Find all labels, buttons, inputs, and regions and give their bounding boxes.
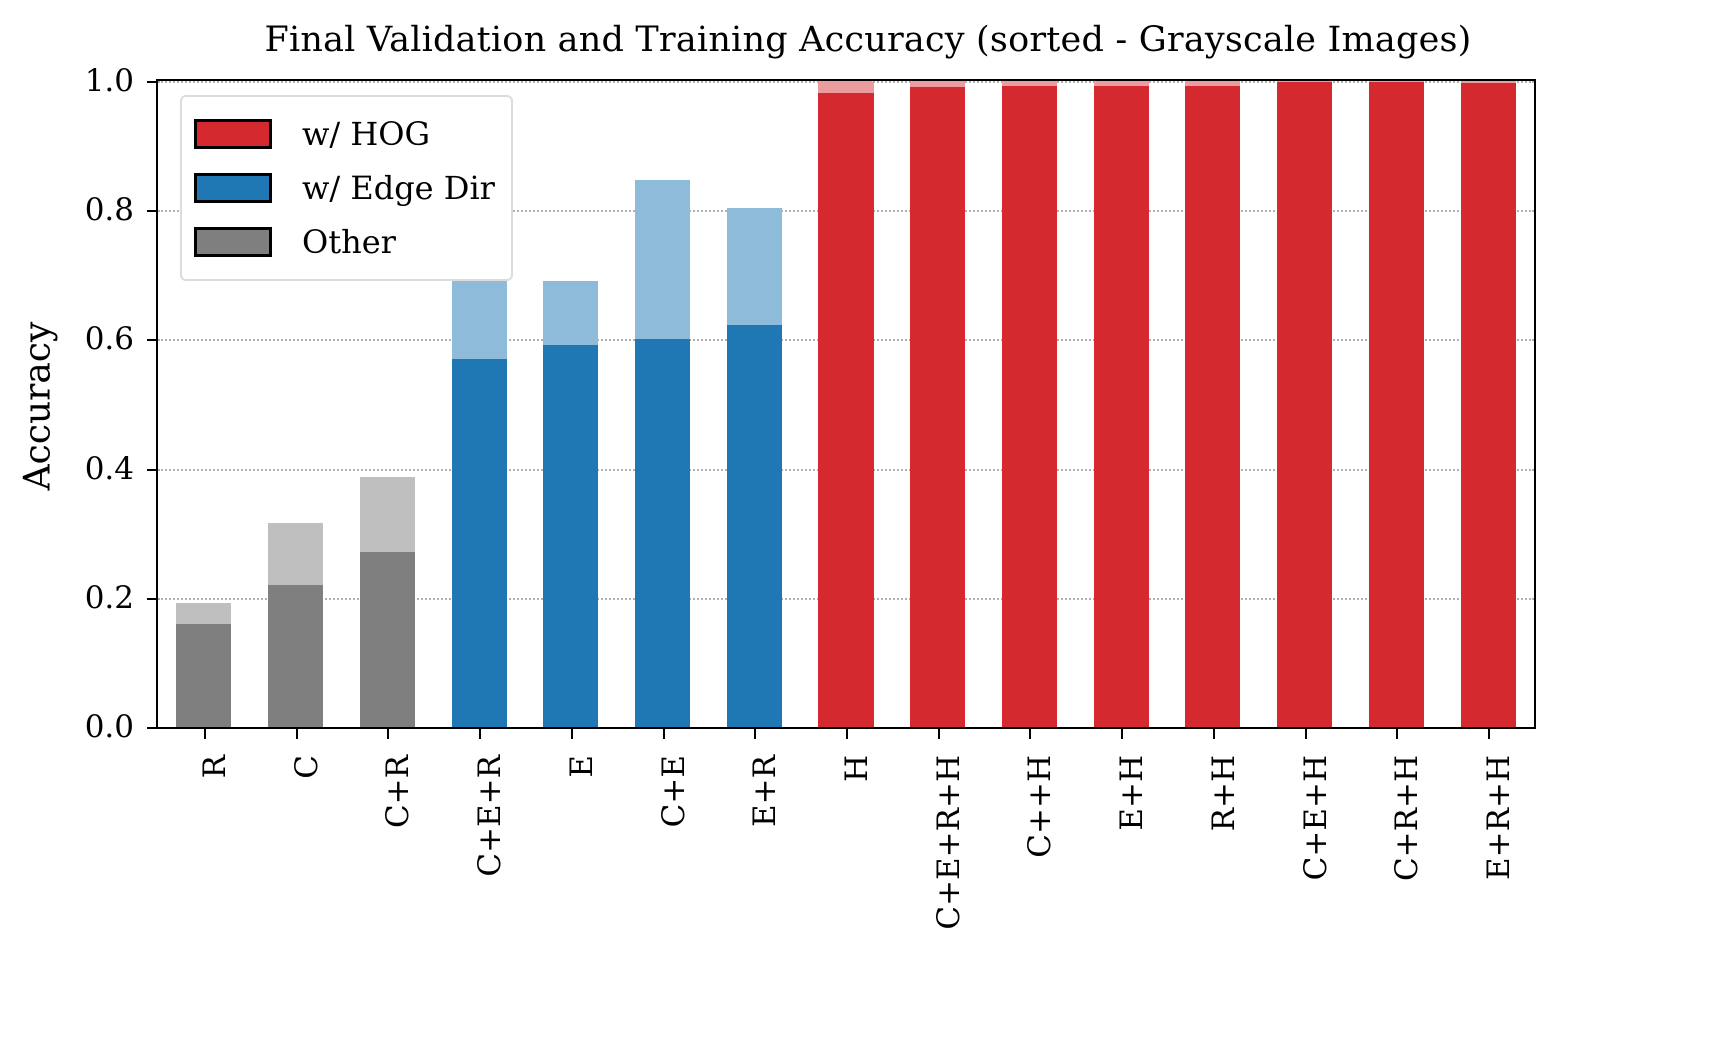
bar-group[interactable] (1185, 81, 1240, 727)
bar-segment-validation (543, 345, 598, 727)
chart-figure: Final Validation and Training Accuracy (… (0, 0, 1736, 1055)
x-tick-label: C+E+R+H (931, 755, 967, 930)
chart-title: Final Validation and Training Accuracy (… (0, 20, 1736, 60)
bar-group[interactable] (910, 81, 965, 727)
bar-segment-training (360, 477, 415, 552)
y-tick-label: 0.2 (85, 580, 134, 616)
legend-swatch-icon (194, 119, 272, 149)
bar-segment-validation (727, 325, 782, 727)
bar-segment-training (543, 281, 598, 346)
y-tick-mark (147, 81, 158, 83)
bar-group[interactable] (818, 81, 873, 727)
legend-label: Other (302, 223, 396, 261)
x-tick-mark (1029, 727, 1031, 739)
bar-group[interactable] (1094, 81, 1149, 727)
x-tick-mark (846, 727, 848, 739)
y-tick-mark (147, 598, 158, 600)
bar-group[interactable] (1277, 81, 1332, 727)
y-tick-mark (147, 210, 158, 212)
legend-label: w/ HOG (302, 115, 430, 153)
x-tick-mark (571, 727, 573, 739)
bar-group[interactable] (543, 281, 598, 727)
x-tick-label: E+R+H (1481, 755, 1517, 880)
y-tick-mark (147, 339, 158, 341)
legend-label: w/ Edge Dir (302, 169, 495, 207)
legend-item[interactable]: Other (194, 215, 495, 269)
y-tick-label: 0.0 (85, 709, 134, 745)
y-tick-label: 0.6 (85, 321, 134, 357)
bar-segment-validation (910, 87, 965, 727)
x-tick-mark (387, 727, 389, 739)
plot-frame: Accuracy 0.00.20.40.60.81.0 RCC+RC+E+REC… (156, 79, 1536, 729)
x-tick-label: C+E (656, 755, 692, 827)
bar-segment-validation (176, 624, 231, 727)
bar-segment-training (727, 208, 782, 326)
bar-segment-validation (818, 93, 873, 727)
x-tick-mark (663, 727, 665, 739)
bar-group[interactable] (176, 603, 231, 727)
x-tick-mark (1488, 727, 1490, 739)
bar-segment-validation (1094, 86, 1149, 727)
x-tick-label: E+H (1114, 755, 1150, 831)
bar-segment-validation (635, 339, 690, 727)
x-tick-label: C+R (380, 755, 416, 828)
y-tick-mark (147, 727, 158, 729)
y-tick-label: 0.4 (85, 451, 134, 487)
bar-segment-validation (1461, 83, 1516, 727)
legend-swatch-icon (194, 227, 272, 257)
legend: w/ HOGw/ Edge DirOther (180, 95, 513, 281)
legend-item[interactable]: w/ Edge Dir (194, 161, 495, 215)
y-axis-label: Accuracy (18, 322, 59, 491)
bar-segment-validation (360, 552, 415, 727)
y-tick-label: 0.8 (85, 192, 134, 228)
x-tick-mark (204, 727, 206, 739)
x-tick-label: E (564, 755, 600, 778)
x-tick-mark (479, 727, 481, 739)
bar-segment-training (818, 81, 873, 93)
y-tick-label: 1.0 (85, 63, 134, 99)
bar-segment-validation (1002, 86, 1057, 727)
x-tick-label: C (289, 755, 325, 779)
bar-segment-validation (268, 585, 323, 727)
x-tick-mark (1121, 727, 1123, 739)
bar-segment-training (635, 180, 690, 339)
bar-group[interactable] (360, 477, 415, 727)
bar-segment-validation (1185, 86, 1240, 727)
x-tick-label: R+H (1206, 755, 1242, 831)
legend-swatch-icon (194, 173, 272, 203)
x-tick-label: C+R+H (1389, 755, 1425, 881)
legend-item[interactable]: w/ HOG (194, 107, 495, 161)
x-tick-label: E+R (747, 755, 783, 827)
bar-group[interactable] (635, 180, 690, 727)
bar-segment-validation (1277, 82, 1332, 727)
x-tick-mark (1396, 727, 1398, 739)
bar-group[interactable] (1002, 81, 1057, 727)
bar-segment-validation (452, 359, 507, 727)
bar-segment-validation (1369, 82, 1424, 727)
x-tick-mark (1305, 727, 1307, 739)
x-tick-label: R (197, 755, 233, 778)
bar-segment-training (268, 523, 323, 585)
bar-segment-training (176, 603, 231, 624)
bar-group[interactable] (727, 208, 782, 727)
bar-group[interactable] (268, 523, 323, 727)
x-tick-mark (1213, 727, 1215, 739)
x-tick-label: C+E+R (472, 755, 508, 877)
bar-group[interactable] (1461, 81, 1516, 727)
x-tick-label: H (839, 755, 875, 782)
x-tick-mark (754, 727, 756, 739)
bar-group[interactable] (1369, 81, 1424, 727)
y-tick-mark (147, 469, 158, 471)
x-tick-mark (296, 727, 298, 739)
x-tick-mark (938, 727, 940, 739)
x-tick-label: C+E+H (1298, 755, 1334, 880)
x-tick-label: C++H (1022, 755, 1058, 858)
